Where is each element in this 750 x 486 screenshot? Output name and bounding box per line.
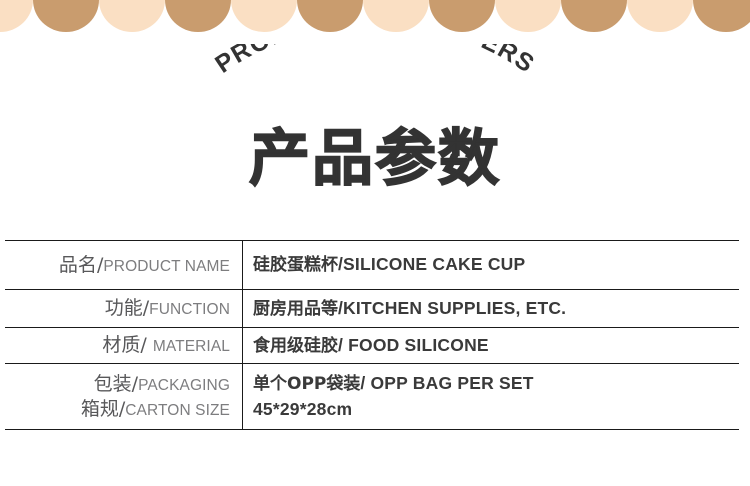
row-value-en: /SILICONE CAKE CUP (338, 254, 525, 274)
row-value-cell: 厨房用品等/KITCHEN SUPPLIES, ETC. (243, 290, 740, 328)
row-label-cn: 包装 (94, 373, 132, 395)
page-title: 产品参数 (0, 128, 750, 189)
row-value-cn: 硅胶蛋糕杯 (253, 255, 338, 275)
row-label-cell: 品名/PRODUCT NAME (5, 241, 243, 290)
row-label-line: 包装/PACKAGING (5, 372, 230, 397)
row-value-en: /KITCHEN SUPPLIES, ETC. (338, 298, 566, 318)
row-label-cell: 功能/FUNCTION (5, 290, 243, 328)
row-label-cn: 材质 (102, 334, 140, 356)
row-label-en: PACKAGING (138, 377, 230, 394)
row-value-en: / FOOD SILICONE (338, 335, 489, 355)
row-label-cell: 材质/ MATERIAL (5, 328, 243, 364)
row-value-line: 硅胶蛋糕杯/SILICONE CAKE CUP (253, 252, 739, 277)
scallop-shape (693, 0, 750, 32)
product-parameters-table: 品名/PRODUCT NAME 硅胶蛋糕杯/SILICONE CAKE CUP … (5, 240, 739, 430)
arched-text-svg: PRODUCT PARAMETERS (165, 44, 585, 120)
scalloped-top-border (0, 0, 750, 34)
english-heading-arc: PRODUCT PARAMETERS (0, 44, 750, 120)
table-row: 包装/PACKAGING 箱规/CARTON SIZE 单个OPP袋装/ OPP… (5, 364, 739, 430)
row-value-en-2: 45*29*28cm (253, 399, 352, 419)
scallop-shape (99, 0, 165, 32)
row-label-line: 材质/ MATERIAL (5, 333, 230, 358)
table-row: 材质/ MATERIAL 食用级硅胶/ FOOD SILICONE (5, 328, 739, 364)
row-label-en-2: CARTON SIZE (125, 402, 230, 419)
row-label-line: 品名/PRODUCT NAME (5, 253, 230, 278)
row-value-cell: 食用级硅胶/ FOOD SILICONE (243, 328, 740, 364)
scallop-shape (627, 0, 693, 32)
row-label-cell: 包装/PACKAGING 箱规/CARTON SIZE (5, 364, 243, 430)
scallop-shape (33, 0, 99, 32)
row-value-line: 厨房用品等/KITCHEN SUPPLIES, ETC. (253, 296, 739, 321)
row-label-line-2: 箱规/CARTON SIZE (5, 397, 230, 422)
row-value-line: 食用级硅胶/ FOOD SILICONE (253, 333, 739, 358)
row-label-cn-2: 箱规 (81, 398, 119, 420)
table-row: 品名/PRODUCT NAME 硅胶蛋糕杯/SILICONE CAKE CUP (5, 241, 739, 290)
scallop-shape (231, 0, 297, 32)
scallop-shape (363, 0, 429, 32)
row-value-cn: 单个OPP袋装 (253, 374, 360, 394)
row-label-line: 功能/FUNCTION (5, 296, 230, 321)
row-label-en: FUNCTION (149, 301, 230, 318)
row-label-cn: 品名 (59, 254, 97, 276)
table-row: 功能/FUNCTION 厨房用品等/KITCHEN SUPPLIES, ETC. (5, 290, 739, 328)
row-value-line: 单个OPP袋装/ OPP BAG PER SET (253, 371, 739, 396)
row-value-line-2: 45*29*28cm (253, 397, 739, 422)
row-label-en: MATERIAL (153, 338, 230, 355)
row-value-cn: 食用级硅胶 (253, 336, 338, 356)
row-label-en: PRODUCT NAME (103, 258, 230, 275)
scallop-shape (297, 0, 363, 32)
english-heading-text: PRODUCT PARAMETERS (210, 44, 540, 79)
scallop-shape (561, 0, 627, 32)
scallop-shape (495, 0, 561, 32)
row-value-cn: 厨房用品等 (253, 299, 338, 319)
scallop-shape (165, 0, 231, 32)
row-value-cell: 单个OPP袋装/ OPP BAG PER SET 45*29*28cm (243, 364, 740, 430)
row-value-en: / OPP BAG PER SET (360, 373, 533, 393)
scallop-shape (0, 0, 33, 32)
scallop-shape (429, 0, 495, 32)
row-value-cell: 硅胶蛋糕杯/SILICONE CAKE CUP (243, 241, 740, 290)
row-label-separator: / (140, 334, 152, 356)
row-label-cn: 功能 (105, 297, 143, 319)
